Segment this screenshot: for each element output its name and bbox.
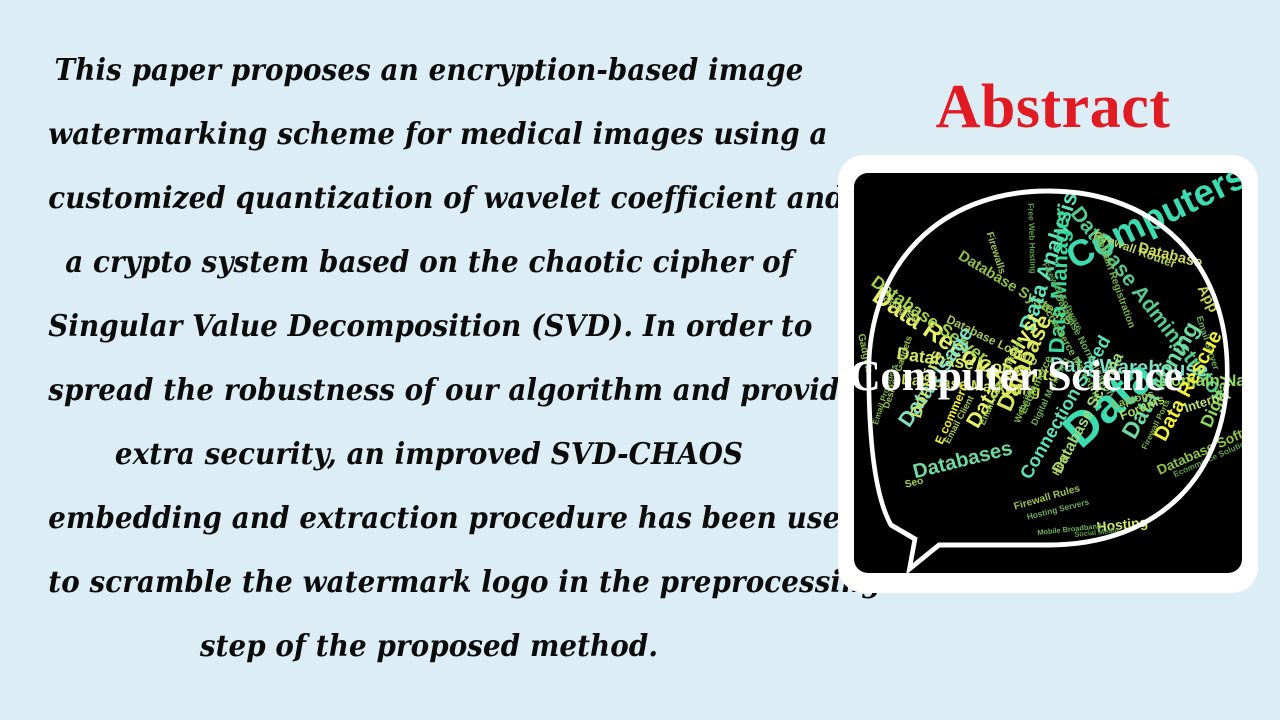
abstract-line: customized quantization of wavelet coeff… [48, 166, 809, 230]
abstract-line: a crypto system based on the chaotic cip… [48, 230, 809, 294]
abstract-line: spread the robustness of our algorithm a… [48, 358, 809, 422]
abstract-line: extra security, an improved SVD-CHAOS [48, 422, 809, 486]
word-cloud-image: Computer Science ComputersData RecoveryD… [854, 173, 1242, 573]
word-cloud-word: App [1194, 283, 1221, 315]
word-cloud-word: Databases [911, 438, 1015, 482]
abstract-line: embedding and extraction procedure has b… [48, 486, 809, 550]
word-cloud-word: Seo [904, 476, 925, 490]
abstract-line: step of the proposed method. [48, 614, 809, 678]
abstract-body-text: This paper proposes an encryption-based … [24, 38, 834, 688]
slide-root: This paper proposes an encryption-based … [0, 0, 1280, 720]
word-cloud-word: Free Web Hosting [1027, 203, 1038, 274]
word-cloud-headline: Computer Science [854, 355, 1183, 398]
abstract-line: to scramble the watermark logo in the pr… [48, 550, 809, 614]
abstract-line: Singular Value Decomposition (SVD). In o… [48, 294, 809, 358]
page-title: Abstract [846, 74, 1260, 140]
illustration-frame: Computer Science ComputersData RecoveryD… [838, 155, 1258, 593]
abstract-line: watermarking scheme for medical images u… [48, 102, 809, 166]
abstract-line: This paper proposes an encryption-based … [48, 38, 809, 102]
